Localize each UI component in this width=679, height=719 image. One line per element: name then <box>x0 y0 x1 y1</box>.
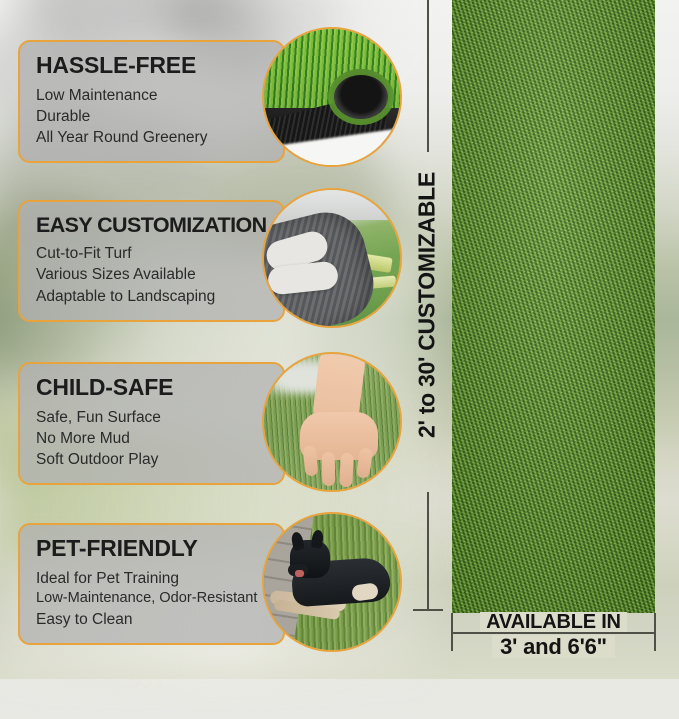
feature-bullet: Ideal for Pet Training <box>36 568 269 589</box>
length-dimension-label: 2' to 30' CUSTOMIZABLE <box>414 172 441 438</box>
feature-bullet: Low-Maintenance, Odor-Resistant <box>36 589 269 609</box>
thumbnail-image <box>264 29 400 165</box>
length-dimension-end-cap <box>413 609 443 611</box>
turf-shading-layer <box>452 0 655 613</box>
feature-card-list: HASSLE-FREE Low Maintenance Durable All … <box>0 0 410 679</box>
feature-card-easy-customization[interactable]: EASY CUSTOMIZATION Cut-to-Fit Turf Vario… <box>18 200 285 322</box>
feature-bullet: Durable <box>36 106 269 127</box>
feature-card-hassle-free[interactable]: HASSLE-FREE Low Maintenance Durable All … <box>18 40 285 163</box>
thumbnail-image <box>264 514 400 650</box>
width-heading: AVAILABLE IN <box>480 612 627 632</box>
feature-bullet: Low Maintenance <box>36 85 269 106</box>
feature-bullet: All Year Round Greenery <box>36 127 269 148</box>
feature-bullets: Low Maintenance Durable All Year Round G… <box>36 85 269 148</box>
feature-bullet: Various Sizes Available <box>36 264 269 285</box>
feature-bullet: No More Mud <box>36 428 269 449</box>
length-dimension-line-lower <box>427 492 429 610</box>
feature-bullets: Safe, Fun Surface No More Mud Soft Outdo… <box>36 407 269 470</box>
feature-card-pet-friendly[interactable]: PET-FRIENDLY Ideal for Pet Training Low-… <box>18 523 285 645</box>
feature-title: CHILD-SAFE <box>36 376 269 400</box>
feature-bullets: Ideal for Pet Training Low-Maintenance, … <box>36 568 269 630</box>
feature-thumbnail-rolled-turf[interactable] <box>262 27 402 167</box>
feature-thumbnail-dog[interactable] <box>262 512 402 652</box>
feature-thumbnail-child-hand[interactable] <box>262 352 402 492</box>
feature-bullet: Safe, Fun Surface <box>36 407 269 428</box>
feature-bullets: Cut-to-Fit Turf Various Sizes Available … <box>36 243 269 306</box>
width-dimension-label: AVAILABLE IN 3' and 6'6" <box>452 612 655 659</box>
feature-title: HASSLE-FREE <box>36 54 269 78</box>
width-values: 3' and 6'6" <box>492 635 615 658</box>
feature-card-child-safe[interactable]: CHILD-SAFE Safe, Fun Surface No More Mud… <box>18 362 285 485</box>
feature-bullet: Soft Outdoor Play <box>36 449 269 470</box>
feature-title: PET-FRIENDLY <box>36 537 269 561</box>
feature-bullet: Cut-to-Fit Turf <box>36 243 269 264</box>
feature-bullet: Adaptable to Landscaping <box>36 286 269 307</box>
length-dimension-line-upper <box>427 0 429 152</box>
thumbnail-image <box>264 190 400 326</box>
thumbnail-image <box>264 354 400 490</box>
feature-thumbnail-installation[interactable] <box>262 188 402 328</box>
turf-sample-panel <box>452 0 655 613</box>
feature-bullet: Easy to Clean <box>36 609 269 630</box>
feature-title: EASY CUSTOMIZATION <box>36 214 269 236</box>
